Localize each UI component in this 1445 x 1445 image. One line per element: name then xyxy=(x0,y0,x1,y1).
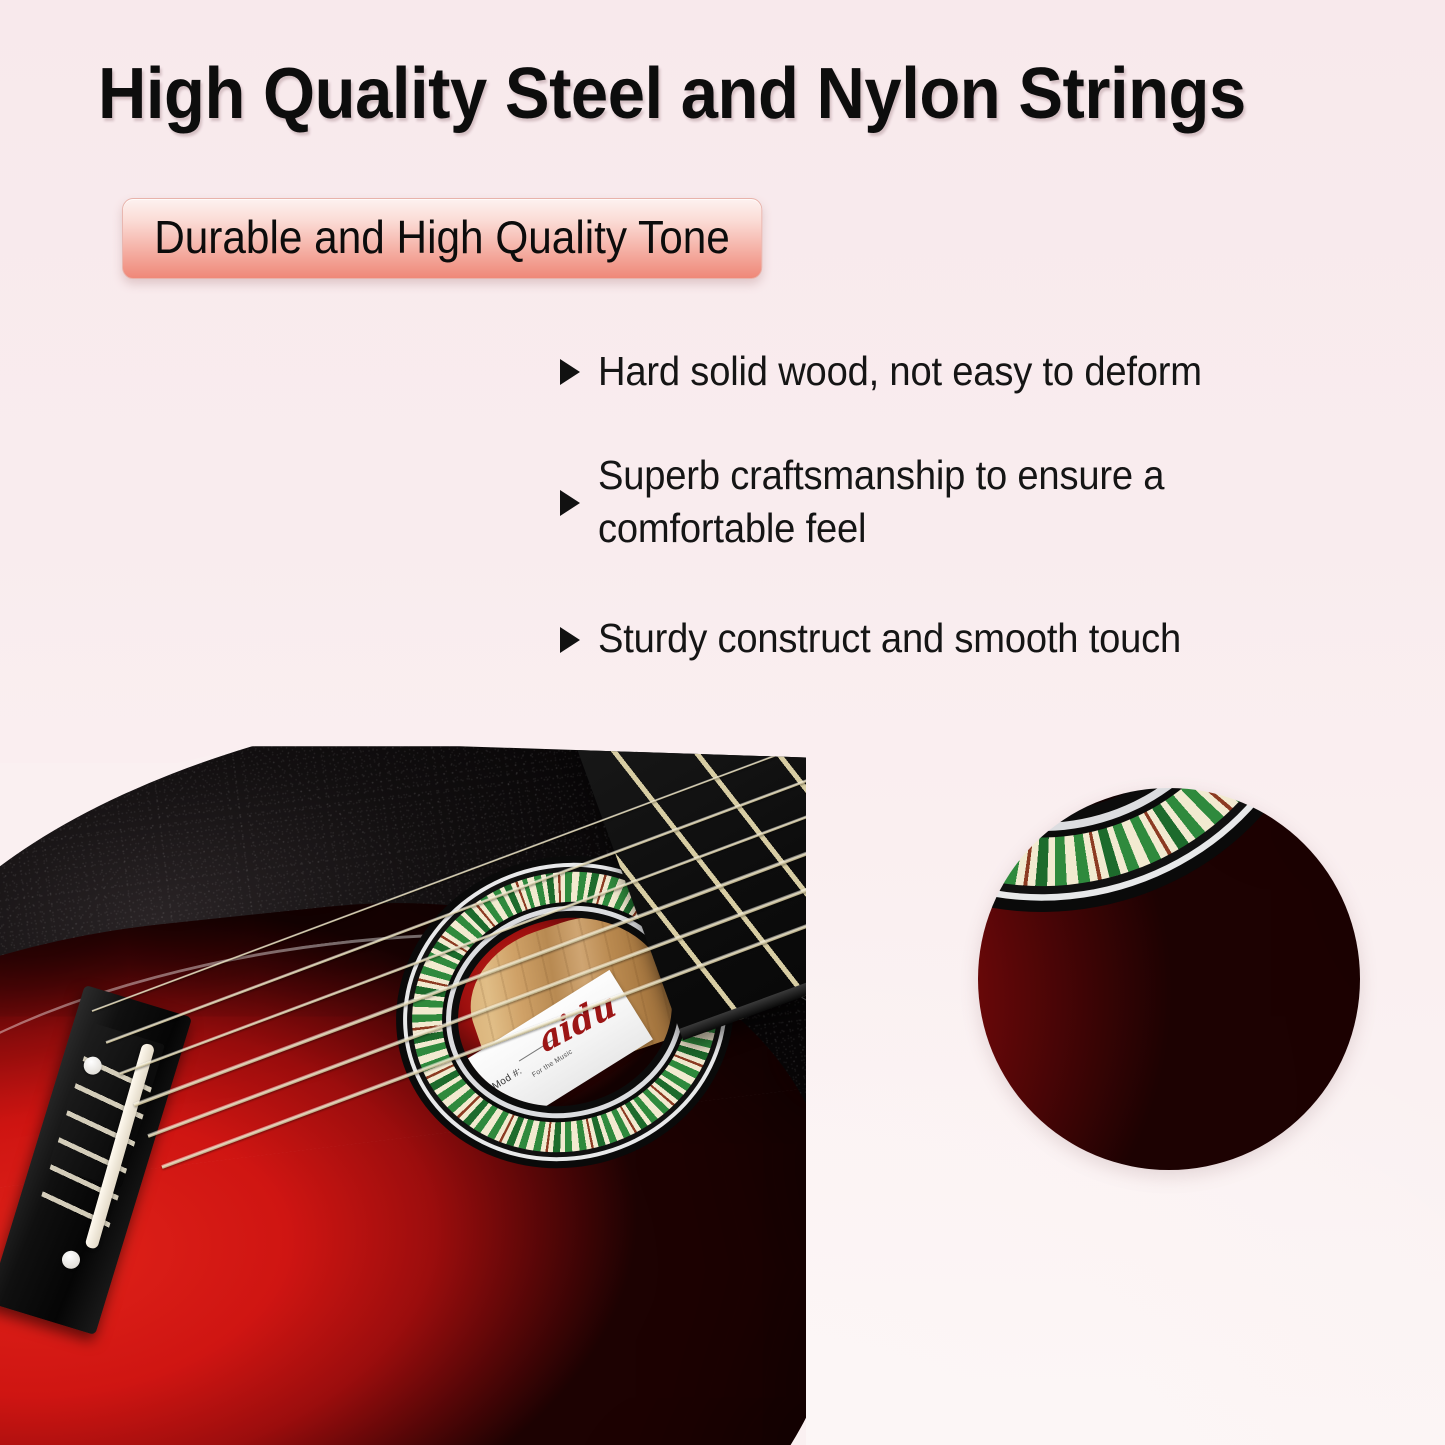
bridge-dot xyxy=(60,1249,82,1271)
list-item-label: Superb craftsmanship to ensure a comfort… xyxy=(598,449,1372,554)
soundhole-closeup-scene: Mod #: For the Music aidu xyxy=(978,788,1360,1170)
classical-guitar-soundhole-photo: Mod #: For the Music aidu xyxy=(978,788,1360,1170)
triangle-right-icon xyxy=(560,627,580,653)
subtitle-badge-wrap: Durable and High Quality Tone xyxy=(122,198,818,279)
subtitle-badge: Durable and High Quality Tone xyxy=(122,198,762,279)
list-item: Hard solid wood, not easy to deform xyxy=(560,345,1430,397)
list-item: Superb craftsmanship to ensure a comfort… xyxy=(560,449,1430,554)
triangle-right-icon xyxy=(560,490,580,516)
list-item-label: Hard solid wood, not easy to deform xyxy=(598,345,1202,397)
label-model: Mod #: xyxy=(491,1066,525,1093)
page-title: High Quality Steel and Nylon Strings xyxy=(98,58,1326,131)
label-model: Mod #: xyxy=(978,788,990,789)
triangle-right-icon xyxy=(560,359,580,385)
soundhole-closeup-circle: Mod #: For the Music aidu xyxy=(978,788,1360,1170)
list-item-label: Sturdy construct and smooth touch xyxy=(598,612,1181,664)
feature-list: Hard solid wood, not easy to deform Supe… xyxy=(560,345,1430,665)
list-item: Sturdy construct and smooth touch xyxy=(560,612,1430,664)
classical-guitar-soundhole-photo: Mod #: For the Music aidu xyxy=(0,742,806,1445)
page-root: High Quality Steel and Nylon Strings Dur… xyxy=(0,0,1445,1445)
